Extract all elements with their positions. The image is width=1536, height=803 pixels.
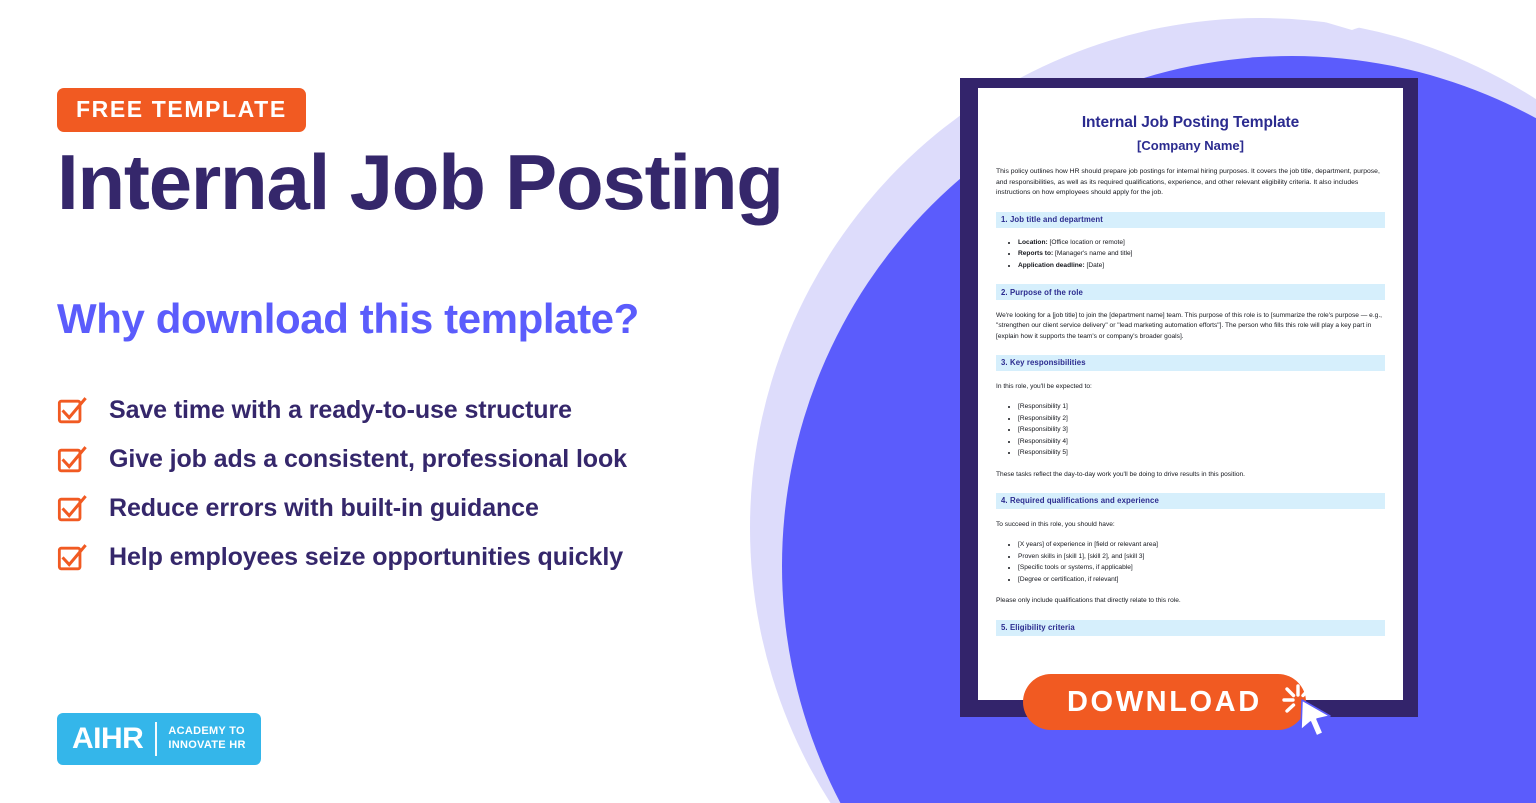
- document-intro: This policy outlines how HR should prepa…: [996, 167, 1385, 199]
- list-item: [Responsibility 4]: [1018, 436, 1385, 448]
- subheading: Why download this template?: [57, 296, 639, 342]
- document-closing-text: Please only include qualifications that …: [996, 596, 1385, 606]
- document-section-heading: 4. Required qualifications and experienc…: [996, 493, 1385, 509]
- list-item: [Responsibility 3]: [1018, 424, 1385, 436]
- document-bullet-list: Location: [Office location or remote] Re…: [1018, 237, 1385, 272]
- document-closing-text: These tasks reflect the day-to-day work …: [996, 470, 1385, 480]
- list-item: Save time with a ready-to-use structure: [57, 386, 627, 435]
- bullet-strong: Application deadline:: [1018, 262, 1085, 269]
- list-item: [Responsibility 5]: [1018, 447, 1385, 459]
- list-item: Help employees seize opportunities quick…: [57, 533, 627, 582]
- logo-tagline-line1: ACADEMY TO: [168, 725, 245, 737]
- list-item: [Responsibility 2]: [1018, 413, 1385, 425]
- document-section-heading: 5. Eligibility criteria: [996, 620, 1385, 636]
- list-item: Give job ads a consistent, professional …: [57, 435, 627, 484]
- checkbox-checked-icon: [57, 543, 87, 573]
- list-item: Reports to: [Manager's name and title]: [1018, 248, 1385, 260]
- document-bullet-list: [X years] of experience in [field or rel…: [1018, 539, 1385, 585]
- checkbox-checked-icon: [57, 396, 87, 426]
- document-paragraph: We're looking for a [job title] to join …: [996, 311, 1385, 342]
- list-item: Reduce errors with built-in guidance: [57, 484, 627, 533]
- promo-banner: FREE TEMPLATE Internal Job Posting Why d…: [0, 0, 1536, 803]
- logo-tagline-line2: INNOVATE HR: [168, 739, 245, 751]
- logo-divider: [155, 722, 157, 756]
- list-item-label: Give job ads a consistent, professional …: [109, 445, 627, 474]
- list-item: [Degree or certification, if relevant]: [1018, 574, 1385, 586]
- list-item: Application deadline: [Date]: [1018, 260, 1385, 272]
- free-template-badge: FREE TEMPLATE: [57, 88, 306, 132]
- logo-tagline: ACADEMY TO INNOVATE HR: [168, 725, 245, 753]
- bullet-rest: [Office location or remote]: [1048, 239, 1125, 246]
- bullet-rest: [Date]: [1085, 262, 1104, 269]
- document-subtitle: [Company Name]: [996, 138, 1385, 153]
- bullet-strong: Reports to:: [1018, 250, 1053, 257]
- benefits-list: Save time with a ready-to-use structure …: [57, 386, 627, 582]
- document-section-heading: 3. Key responsibilities: [996, 355, 1385, 371]
- list-item-label: Reduce errors with built-in guidance: [109, 494, 539, 523]
- document-lead-text: In this role, you'll be expected to:: [996, 382, 1385, 392]
- page-title: Internal Job Posting: [57, 142, 783, 224]
- bullet-rest: [Manager's name and title]: [1053, 250, 1132, 257]
- bullet-strong: Location:: [1018, 239, 1048, 246]
- list-item: [Specific tools or systems, if applicabl…: [1018, 562, 1385, 574]
- list-item: Location: [Office location or remote]: [1018, 237, 1385, 249]
- list-item-label: Help employees seize opportunities quick…: [109, 543, 623, 572]
- list-item-label: Save time with a ready-to-use structure: [109, 396, 572, 425]
- document-bullet-list: [Responsibility 1] [Responsibility 2] [R…: [1018, 401, 1385, 459]
- list-item: [X years] of experience in [field or rel…: [1018, 539, 1385, 551]
- aihr-logo: AIHR ACADEMY TO INNOVATE HR: [57, 713, 261, 765]
- checkbox-checked-icon: [57, 445, 87, 475]
- logo-wordmark: AIHR: [72, 724, 143, 754]
- hero-content: FREE TEMPLATE Internal Job Posting Why d…: [57, 0, 887, 803]
- document-title: Internal Job Posting Template: [996, 114, 1385, 132]
- document-lead-text: To succeed in this role, you should have…: [996, 520, 1385, 530]
- document-section-heading: 1. Job title and department: [996, 212, 1385, 228]
- download-button[interactable]: DOWNLOAD: [1023, 674, 1306, 730]
- checkbox-checked-icon: [57, 494, 87, 524]
- document-preview: Internal Job Posting Template [Company N…: [978, 88, 1403, 700]
- list-item: [Responsibility 1]: [1018, 401, 1385, 413]
- document-section-heading: 2. Purpose of the role: [996, 284, 1385, 300]
- list-item: Proven skills in [skill 1], [skill 2], a…: [1018, 551, 1385, 563]
